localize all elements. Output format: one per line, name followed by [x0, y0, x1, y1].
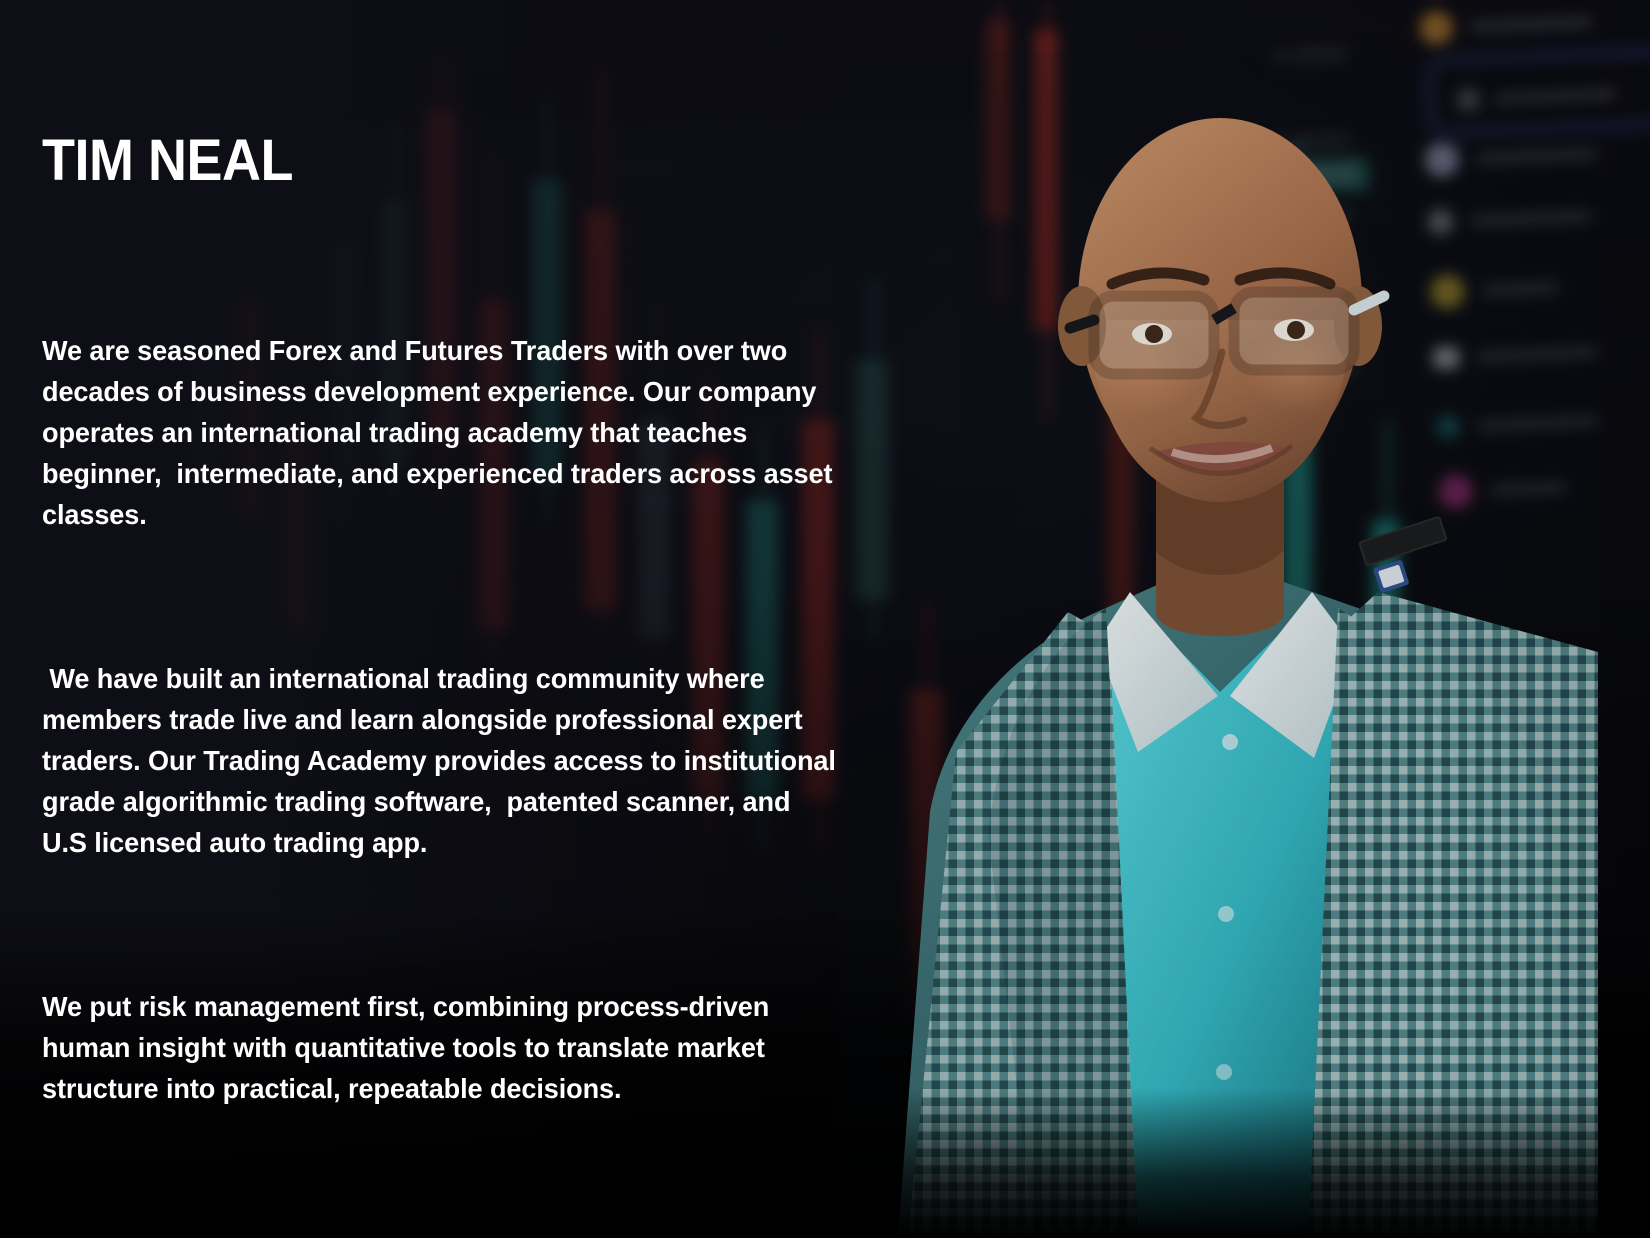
portrait-photo [838, 52, 1598, 1238]
bio-content: TIM NEAL We are seasoned Forex and Futur… [42, 132, 852, 1238]
bio-paragraph: We partner with trading communities to f… [42, 1232, 840, 1238]
page-title: TIM NEAL [42, 132, 795, 190]
bio-paragraph: We have built an international trading c… [42, 658, 840, 863]
bio-paragraph: We are seasoned Forex and Futures Trader… [42, 330, 840, 535]
bio-text: We are seasoned Forex and Futures Trader… [42, 248, 840, 1238]
bio-paragraph: We put risk management first, combining … [42, 986, 840, 1109]
profile-slide: 1(1.290) 0.618(1.0 0.5(0.993) 0.236(0.83… [0, 0, 1650, 1238]
